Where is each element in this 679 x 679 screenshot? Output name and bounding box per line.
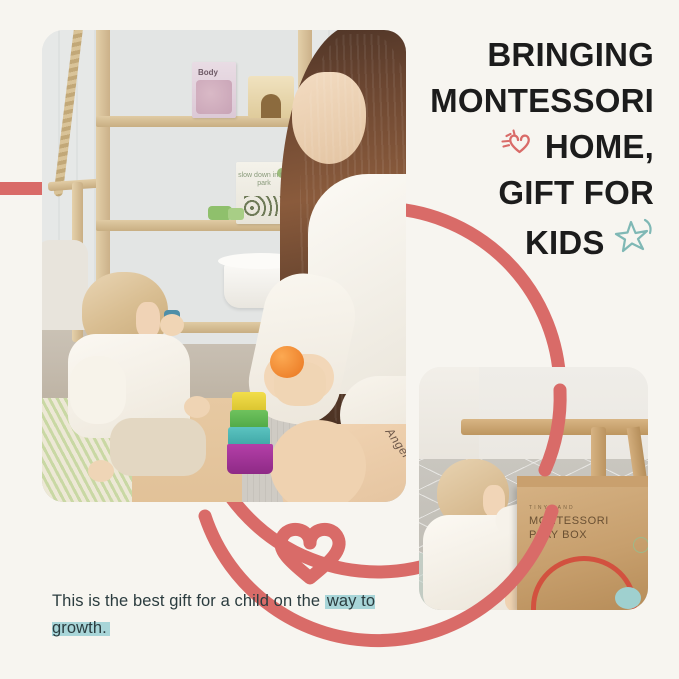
orange-ball-toy xyxy=(270,346,304,378)
wooden-table-top xyxy=(461,419,648,435)
headline-line-3: HOME, xyxy=(545,128,654,165)
coral-heart-accent xyxy=(281,529,339,578)
baby-hand xyxy=(160,314,184,336)
headline-line-3-wrap: HOME, xyxy=(398,124,654,170)
inset-photo: TINY LAND MONTESSORI PLAY BOX xyxy=(419,367,648,610)
play-box-title-line1: MONTESSORI xyxy=(529,515,609,527)
heart-doodle-icon xyxy=(501,128,535,158)
star-sparkle-icon xyxy=(614,216,654,254)
living-room-scene: TINY LAND MONTESSORI PLAY BOX xyxy=(419,367,648,610)
promo-graphic-canvas: Body slow down in the park xyxy=(0,0,679,679)
play-box-title-line2: PLAY BOX xyxy=(529,529,587,541)
baby-face xyxy=(136,302,160,338)
baby-hand-lower xyxy=(88,460,114,482)
stacking-cup-purple xyxy=(227,444,273,474)
headline-block: BRINGING MONTESSORI HOME, GIFT FOR KIDS xyxy=(398,32,654,266)
mother-knee xyxy=(270,420,366,502)
caption-line-1: This is the best gift for a child on the xyxy=(52,592,320,610)
nursery-room-scene: Body slow down in the park xyxy=(42,30,406,502)
stacking-cup-yellow xyxy=(232,392,266,412)
shelf-book-body-cover-art xyxy=(196,80,232,114)
play-box-brand-label: TINY LAND xyxy=(529,505,575,511)
headline-line-1: BRINGING xyxy=(398,32,654,78)
headline-line-5: KIDS xyxy=(525,224,605,261)
shelf-book-body: Body xyxy=(192,62,236,118)
baby-sleeve xyxy=(70,356,126,424)
green-toy-block-2 xyxy=(228,208,244,220)
play-box-teal-dot-art xyxy=(615,587,641,609)
baby-figure xyxy=(64,272,206,480)
stacking-cups-toy xyxy=(227,392,273,478)
baby-pants xyxy=(110,418,206,476)
play-box-seal-icon xyxy=(633,537,648,553)
play-box-lid xyxy=(517,476,648,487)
montessori-play-box-product: TINY LAND MONTESSORI PLAY BOX xyxy=(517,485,648,610)
headline-line-4: GIFT FOR xyxy=(398,170,654,216)
shelf-book-body-title: Body xyxy=(198,68,218,77)
main-photo: Body slow down in the park xyxy=(42,30,406,502)
caption-block: This is the best gift for a child on the… xyxy=(52,588,412,642)
baby-foot xyxy=(184,396,210,418)
headline-line-2: MONTESSORI xyxy=(398,78,654,124)
headline-line-5-wrap: KIDS xyxy=(398,216,654,266)
